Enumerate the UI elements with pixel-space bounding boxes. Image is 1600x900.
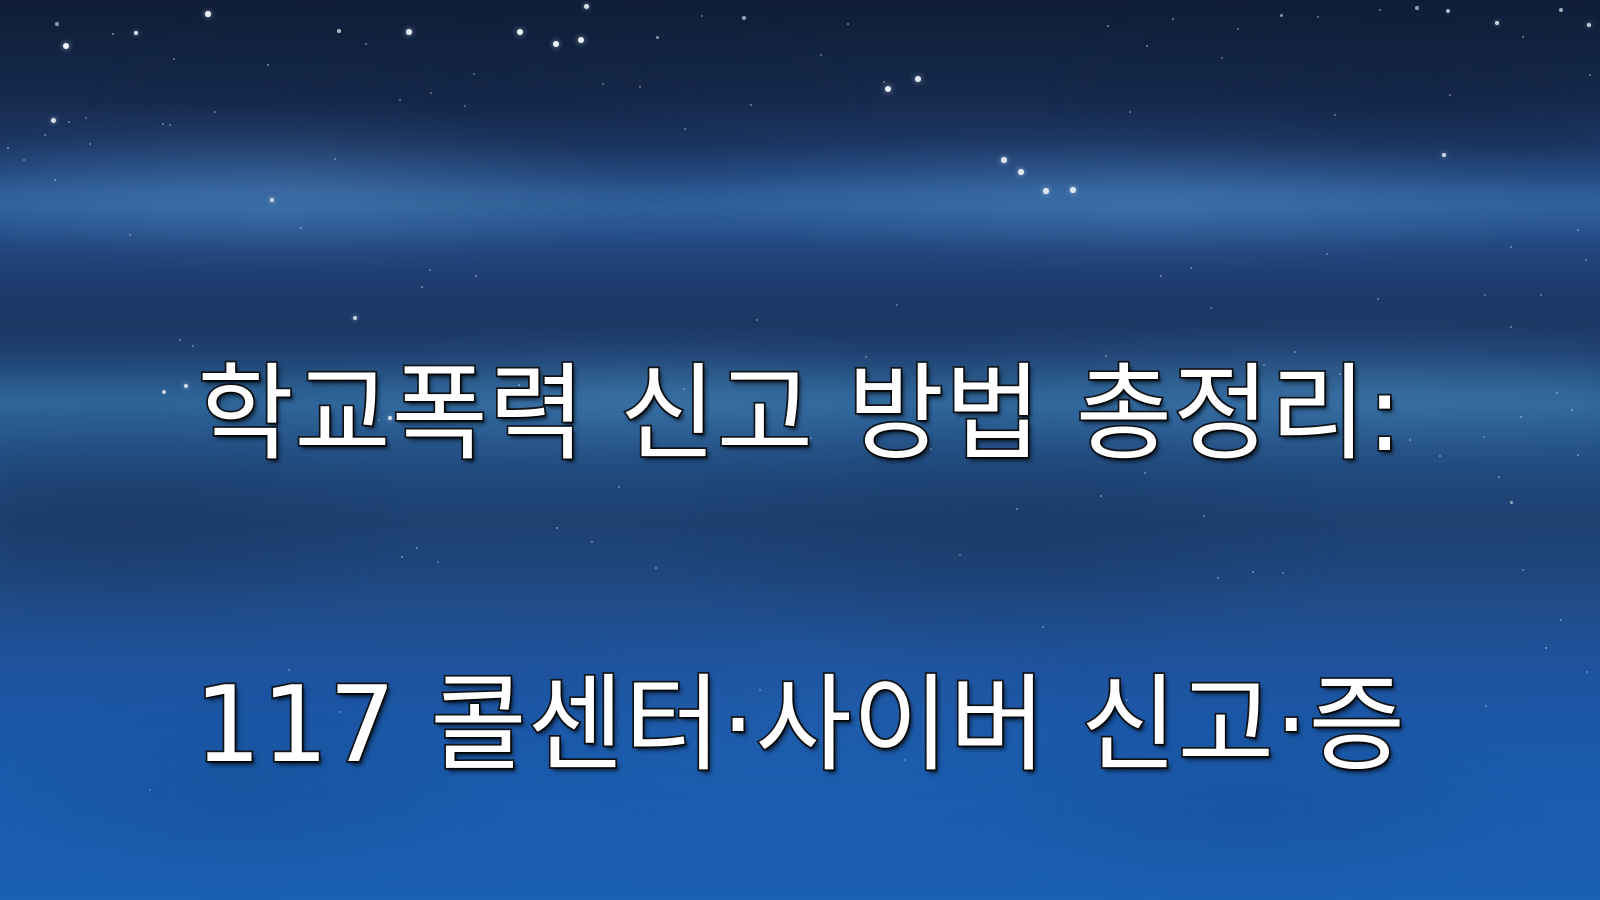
star-dot — [602, 83, 604, 85]
star-dot — [847, 23, 850, 26]
star-dot — [334, 158, 336, 160]
star-dot — [1172, 18, 1175, 21]
star-dot — [44, 134, 46, 136]
star-dot — [173, 58, 175, 60]
star-dot — [169, 124, 171, 126]
star-dot — [406, 29, 411, 34]
star-dot — [553, 41, 559, 47]
star-dot — [1280, 14, 1283, 17]
star-dot — [55, 22, 58, 25]
star-dot — [885, 86, 891, 92]
star-dot — [1317, 16, 1319, 18]
star-dot — [578, 37, 584, 43]
star-dot — [820, 54, 822, 56]
star-dot — [1237, 28, 1239, 30]
star-dot — [7, 147, 10, 150]
star-dot — [883, 81, 885, 83]
star-dot — [1587, 23, 1592, 28]
star-dot — [1415, 6, 1418, 9]
star-dot — [430, 92, 432, 94]
star-dot — [214, 111, 216, 113]
star-dot — [656, 36, 659, 39]
star-dot — [1522, 36, 1524, 38]
thumbnail-canvas: 학교폭력 신고 방법 총정리: 117 콜센터·사이버 신고·증 거 보존 가이… — [0, 0, 1600, 900]
star-dot — [68, 121, 70, 123]
star-dot — [1018, 169, 1023, 174]
star-dot — [399, 99, 401, 101]
headline-line-2: 117 콜센터·사이버 신고·증 — [0, 648, 1600, 803]
star-dot — [742, 16, 745, 19]
star-dot — [1334, 114, 1336, 116]
star-dot — [267, 64, 270, 67]
star-dot — [205, 11, 210, 16]
star-dot — [517, 29, 523, 35]
star-dot — [1495, 21, 1500, 26]
star-dot — [1146, 45, 1148, 47]
star-dot — [162, 123, 164, 125]
star-dot — [915, 76, 921, 82]
star-dot — [365, 43, 367, 45]
star-dot — [337, 29, 341, 33]
star-dot — [51, 118, 56, 123]
star-dot — [1589, 74, 1591, 76]
star-dot — [1449, 94, 1451, 96]
star-dot — [54, 179, 56, 181]
star-dot — [1379, 9, 1381, 11]
star-dot — [23, 159, 25, 161]
star-dot — [85, 117, 87, 119]
star-dot — [464, 105, 466, 107]
headline-line-1: 학교폭력 신고 방법 총정리: — [0, 337, 1600, 492]
star-dot — [473, 73, 475, 75]
star-dot — [1442, 153, 1447, 158]
star-dot — [584, 4, 589, 9]
star-dot — [1107, 25, 1110, 28]
star-dot — [89, 143, 91, 145]
star-dot — [1559, 8, 1563, 12]
headline-title: 학교폭력 신고 방법 총정리: 117 콜센터·사이버 신고·증 거 보존 가이… — [0, 182, 1600, 900]
star-dot — [134, 31, 139, 36]
star-dot — [63, 43, 69, 49]
star-dot — [701, 15, 703, 17]
star-dot — [1446, 9, 1450, 13]
star-dot — [1001, 157, 1006, 162]
star-dot — [684, 128, 686, 130]
star-dot — [1129, 111, 1131, 113]
star-dot — [750, 104, 752, 106]
star-dot — [1221, 57, 1223, 59]
star-dot — [639, 86, 641, 88]
star-dot — [112, 33, 115, 36]
